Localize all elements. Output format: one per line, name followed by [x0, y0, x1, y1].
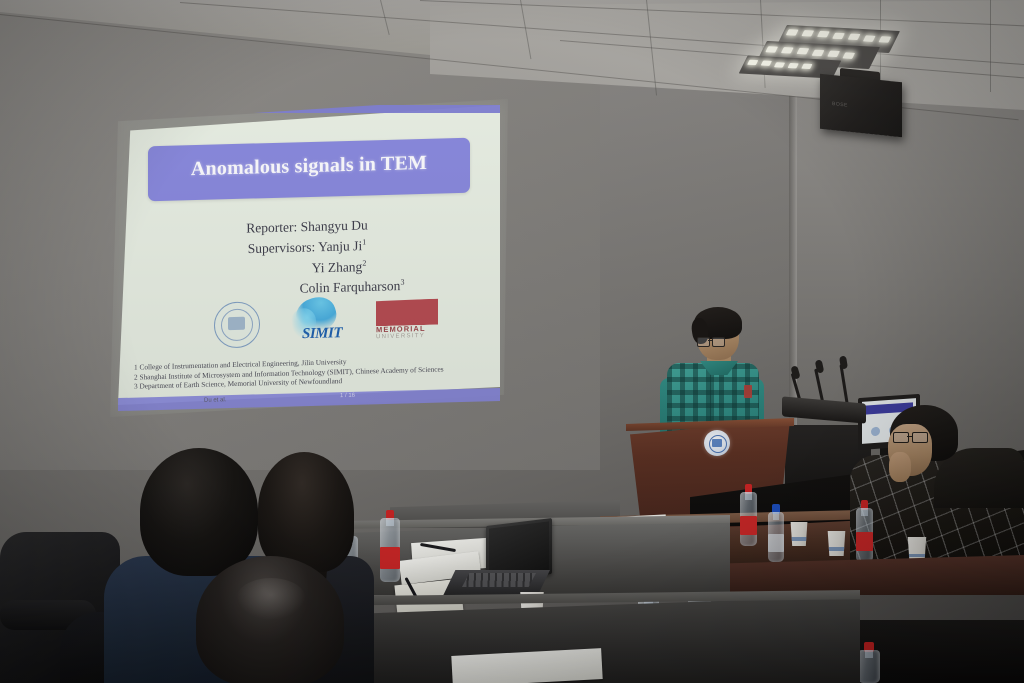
slide-bottom-bar	[118, 388, 500, 411]
presenter-badge	[744, 385, 752, 398]
slide-supervisor-line-1: Supervisors: Yanju Ji	[248, 238, 362, 256]
slide-title-band: Anomalous signals in TEM	[148, 138, 470, 202]
seated-attendee-glasses	[893, 432, 927, 442]
jilin-university-logo	[214, 301, 260, 348]
slide-title: Anomalous signals in TEM	[148, 151, 470, 183]
water-bottle	[380, 510, 400, 582]
superscript-3: 3	[400, 277, 404, 286]
simit-logo: SIMIT	[286, 297, 356, 347]
wall-speaker: BOSE	[820, 74, 902, 138]
memorial-university-logo: MEMORIAL UNIVERSITY	[376, 299, 438, 343]
superscript-2: 2	[362, 258, 366, 267]
slide-logo-row: SIMIT MEMORIAL UNIVERSITY	[158, 296, 463, 350]
water-bottle	[768, 504, 784, 562]
memorial-logo-subtext: UNIVERSITY	[376, 333, 425, 340]
presentation-room-photo: BOSE Anomalous signals in TEM Reporter: …	[0, 0, 1024, 683]
presenter-glasses	[697, 337, 725, 346]
paper-cup	[826, 531, 847, 556]
water-bottle	[856, 500, 873, 562]
slide-footer-author: Du et al.	[204, 397, 226, 404]
projection-screen: Anomalous signals in TEM Reporter: Shang…	[118, 105, 500, 410]
ceiling-grid-line	[990, 0, 991, 92]
simit-logo-text: SIMIT	[302, 325, 342, 343]
slide-page-number: 1 / 16	[340, 393, 355, 399]
seated-attendee-hand	[889, 452, 911, 482]
paper-cup	[789, 522, 809, 546]
slide-author-block: Reporter: Shangyu Du Supervisors: Yanju …	[158, 214, 460, 301]
podium-emblem	[704, 430, 730, 456]
slide-supervisor-line-3: Colin Farquharson	[300, 278, 401, 296]
water-bottle	[740, 484, 757, 546]
speaker-brand-label: BOSE	[832, 101, 848, 109]
water-bottle	[858, 642, 880, 683]
slide-supervisor-line-2: Yi Zhang	[312, 259, 363, 275]
attendee-hair	[258, 452, 354, 572]
superscript-1: 1	[362, 237, 366, 246]
laptop-keyboard	[462, 573, 536, 587]
slide-footnotes: 1 College of Instrumentation and Electri…	[134, 353, 484, 391]
attendee-hair	[140, 448, 258, 576]
